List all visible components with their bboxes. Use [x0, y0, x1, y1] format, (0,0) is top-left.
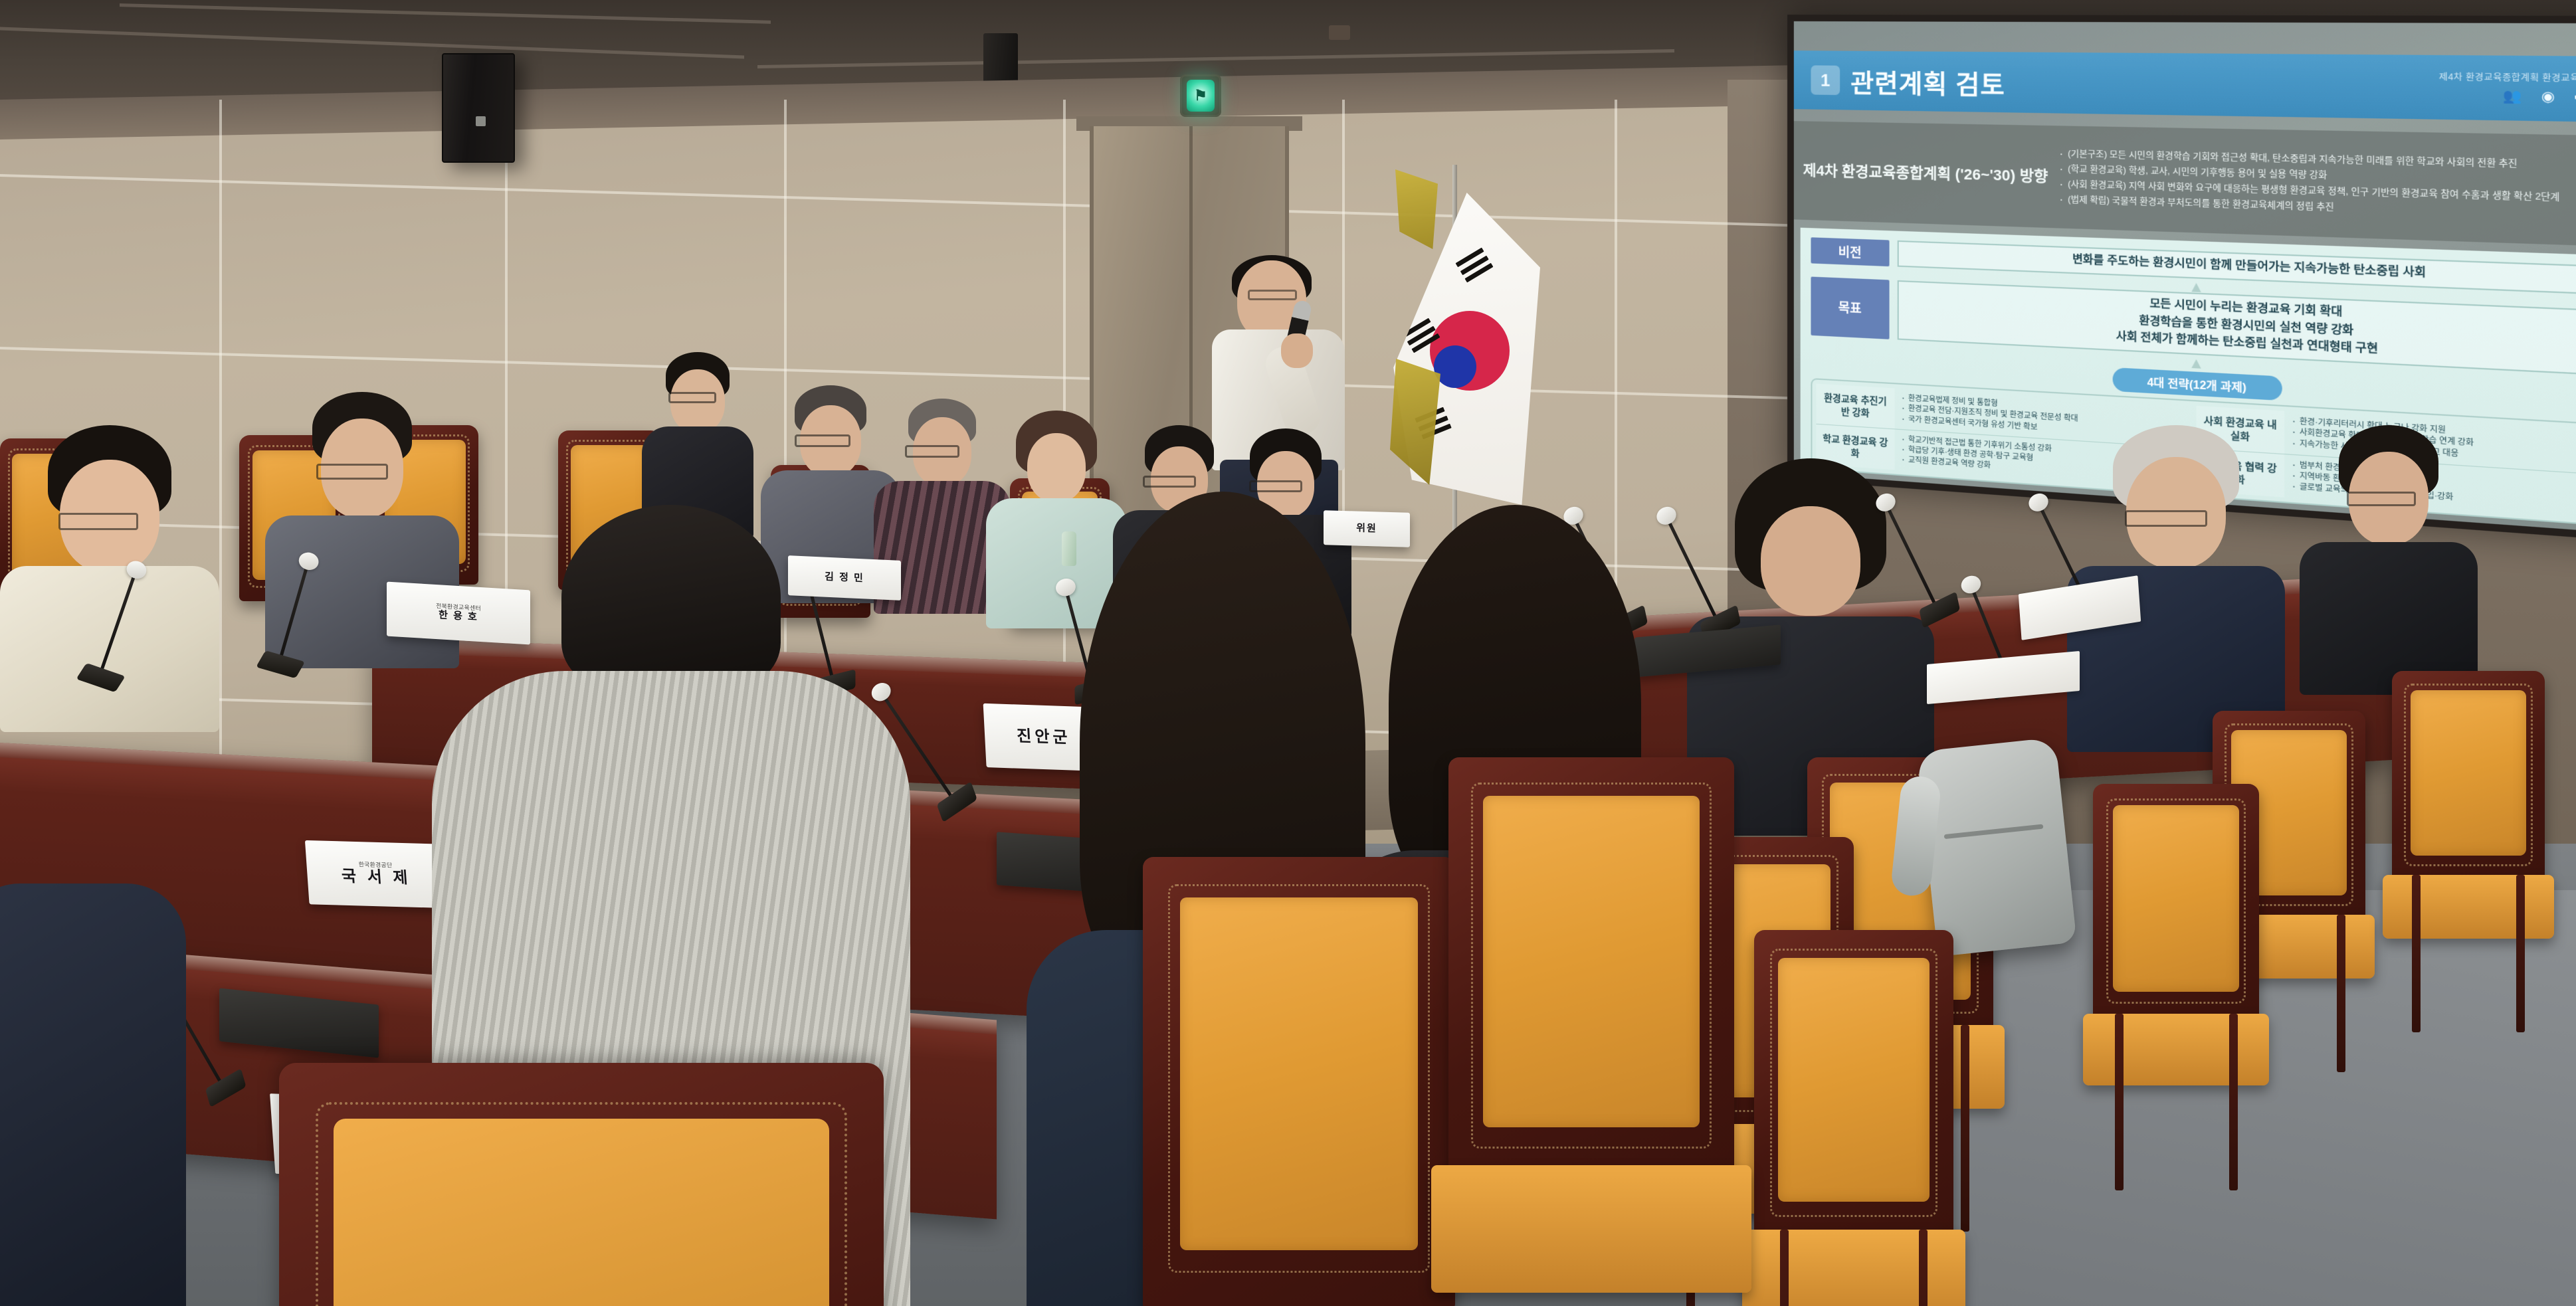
chair[interactable] [2392, 671, 2545, 884]
strategy-head: 환경교육 추진기반 강화 [1816, 384, 1894, 429]
trigram [1456, 248, 1494, 283]
globe-icon: ◉ [2538, 88, 2557, 106]
people-icon: 👥 [2503, 88, 2522, 106]
chair[interactable] [2093, 784, 2259, 1023]
slide-direction-band: 제4차 환경교육종합계획 ('26~'30) 방향 (기본구조) 모든 시민의 … [1794, 121, 2576, 248]
attendee-far-right [2312, 425, 2465, 678]
ceiling-speaker-icon [983, 33, 1018, 85]
goal-key: 목표 [1811, 276, 1889, 339]
chair[interactable] [1448, 757, 1734, 1182]
name-placard-front: 한국환경공단 국 서 제 [305, 840, 447, 908]
conference-room-photo: ⚑ 1 관련계획 검토 제4차 환경교육종합계획 환경교육화('26~'30) … [0, 0, 2576, 1306]
vision-key: 비전 [1811, 237, 1889, 266]
backpack[interactable] [1916, 737, 2076, 957]
taeguk-symbol [1430, 311, 1510, 391]
slide-header-icons: 👥 ◉ ▪▭ ⚛ [2503, 88, 2576, 107]
slide-kicker: 제4차 환경교육종합계획 환경교육화('26~'30) [2439, 70, 2576, 84]
glasses-icon [1248, 290, 1297, 300]
placard-name: 국 서 제 [341, 868, 411, 887]
strategy-pill: 4대 전략(12개 과제) [2113, 367, 2282, 401]
slide-header: 1 관련계획 검토 제4차 환경교육종합계획 환경교육화('26~'30) 👥 … [1794, 50, 2576, 123]
chair[interactable] [1754, 930, 1953, 1242]
band-bullet-list: (기본구조) 모든 시민의 환경학습 기회와 접근성 확대, 탄소중립과 지속가… [2058, 149, 2576, 223]
slide-header-right: 제4차 환경교육종합계획 환경교육화('26~'30) 👥 ◉ ▪▭ ⚛ [2439, 70, 2576, 107]
attendee-silver-hair [2080, 425, 2272, 711]
slide-title: 관련계획 검토 [1850, 62, 2005, 101]
exit-sign-icon: ⚑ [1187, 80, 1215, 112]
slide-section-badge: 1 [1811, 65, 1840, 95]
chair-foreground[interactable] [279, 1063, 884, 1306]
presenter-hand [1281, 333, 1313, 368]
attendee-left-front [13, 425, 206, 704]
vision-line: 변화를 주도하는 환경시민이 함께 만들어가는 지속가능한 탄소중립 사회 [2072, 253, 2426, 281]
attendee-foreground-left [0, 884, 173, 1306]
chair[interactable] [1143, 857, 1455, 1306]
attendee-rear-young [651, 352, 744, 525]
wall-speaker-icon [442, 53, 515, 163]
ceiling-mount [1329, 25, 1350, 40]
band-label: 제4차 환경교육종합계획 ('26~'30) 방향 [1803, 161, 2048, 187]
